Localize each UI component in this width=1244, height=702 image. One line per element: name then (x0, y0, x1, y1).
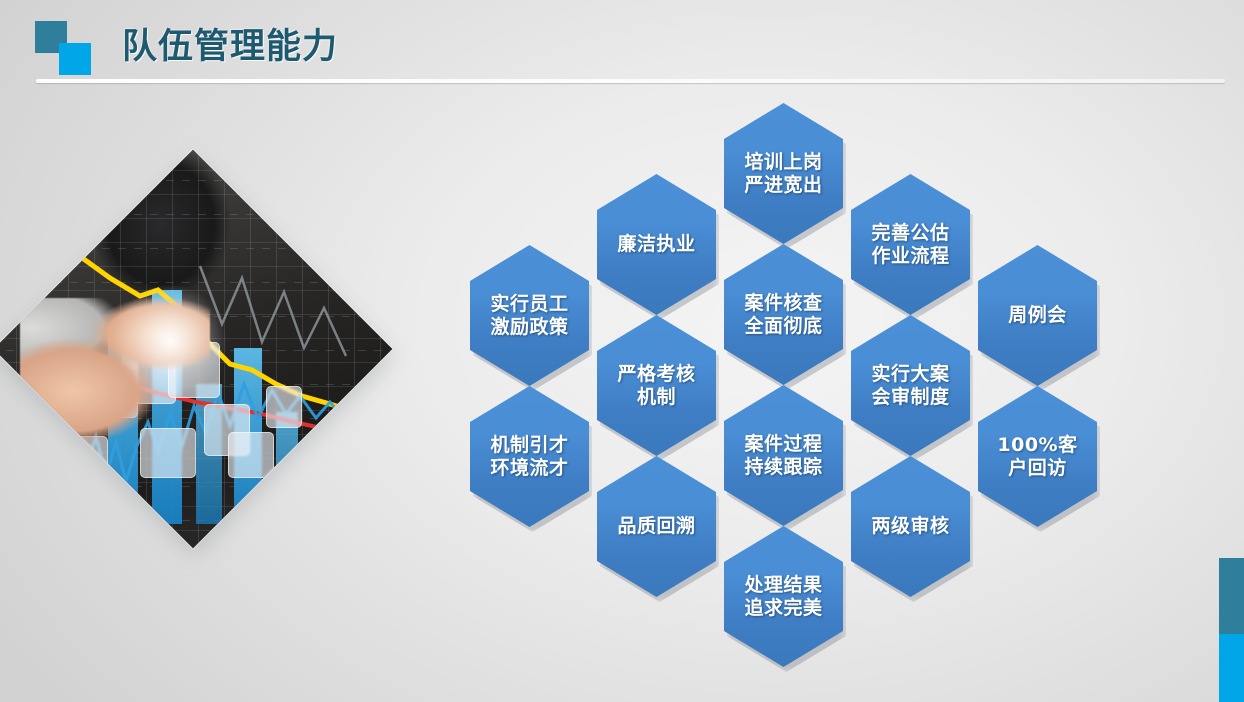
hexagon-label: 两级审核 (867, 515, 953, 537)
hexagon-label: 处理结果 追求完美 (740, 574, 826, 619)
hexagon-label: 完善公估 作业流程 (867, 222, 953, 267)
hexagon-label: 实行大案 会审制度 (867, 363, 953, 408)
hexagon-diagram: 实行员工 激励政策机制引才 环境流才廉洁执业严格考核 机制品质回溯培训上岗 严进… (0, 0, 1244, 702)
accent-bar-teal (1219, 558, 1244, 634)
hexagon-label: 周例会 (1004, 304, 1071, 326)
hexagon-label: 案件核查 全面彻底 (740, 292, 826, 337)
hexagon-label: 品质回溯 (613, 515, 699, 537)
hexagon-label: 培训上岗 严进宽出 (740, 151, 826, 196)
hexagon-label: 案件过程 持续跟踪 (740, 433, 826, 478)
hexagon-label: 严格考核 机制 (613, 363, 699, 408)
accent-bar-blue (1219, 634, 1244, 702)
hexagon-label: 实行员工 激励政策 (486, 293, 572, 338)
hexagon-label: 廉洁执业 (613, 233, 699, 255)
hexagon-label: 100%客 户回访 (993, 434, 1081, 479)
hexagon-label: 机制引才 环境流才 (486, 434, 572, 479)
